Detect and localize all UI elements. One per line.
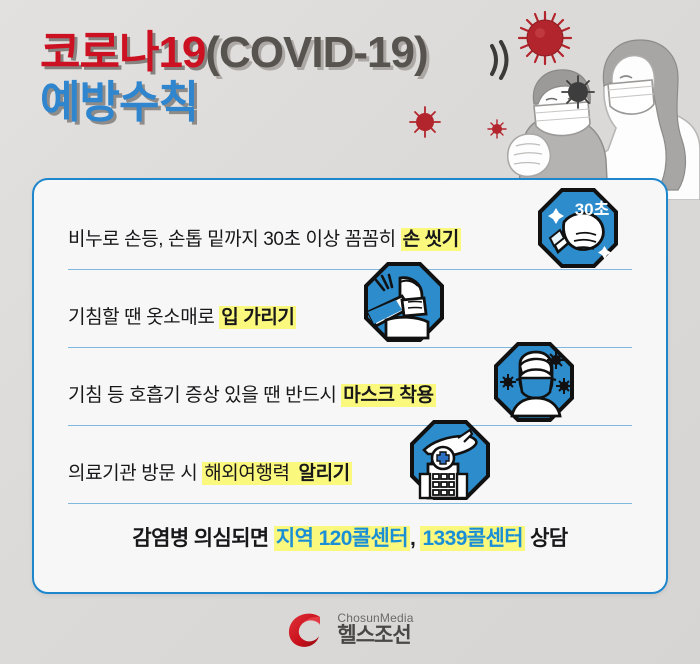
call-center-lead: 감염병 의심되면 (132, 527, 274, 550)
call-center-1339: 1339콜센터 (420, 526, 524, 551)
title-line-1: 코로나19(COVID-19) (40, 28, 428, 78)
icon-badge-30sec: 30초 (575, 200, 610, 219)
rule-text-2: 기침할 땐 옷소매로 입 가리기 (68, 302, 296, 329)
rule-emphasis-2: 입 가리기 (219, 306, 296, 329)
logo-korean: 헬스조선 (337, 625, 413, 647)
logo-text-block: ChosunMedia 헬스조선 (337, 612, 413, 647)
rule-prefix-1: 비누로 손등, 손톱 밑까지 30초 이상 꼼꼼히 (68, 229, 401, 250)
logo-english: ChosunMedia (337, 612, 413, 625)
rule-separator-1 (68, 269, 632, 270)
rule-prefix-3: 기침 등 호흡기 증상 있을 땐 반드시 (68, 385, 341, 406)
title-english: (COVID-19) (205, 28, 427, 77)
rule-separator-4 (68, 503, 632, 504)
call-center-trail: 상담 (525, 527, 568, 550)
rule-emphasis-4: 알리기 (296, 462, 351, 485)
page-title: 코로나19(COVID-19) 예방수칙 (40, 28, 428, 128)
rule-mid-highlight-4: 해외여행력 (202, 462, 296, 485)
rule-text-1: 비누로 손등, 손톱 밑까지 30초 이상 꼼꼼히 손 씻기 (68, 224, 461, 251)
call-center-separator: , (410, 527, 420, 550)
rule-text-4: 의료기관 방문 시 해외여행력 알리기 (68, 458, 352, 485)
rule-row-4: 의료기관 방문 시 해외여행력 알리기 (34, 436, 666, 514)
rule-separator-3 (68, 425, 632, 426)
call-center-local: 지역 120콜센터 (274, 526, 410, 551)
title-korean: 코로나19 (40, 28, 205, 77)
rule-row-1: 비누로 손등, 손톱 밑까지 30초 이상 꼼꼼히 손 씻기 30초 (34, 202, 666, 280)
rule-prefix-2: 기침할 땐 옷소매로 (68, 307, 219, 328)
rule-row-3: 기침 등 호흡기 증상 있을 땐 반드시 마스크 착용 (34, 358, 666, 436)
cough-into-sleeve-icon (356, 258, 452, 359)
title-subtitle: 예방수칙 (40, 78, 428, 128)
rule-text-3: 기침 등 호흡기 증상 있을 땐 반드시 마스크 착용 (68, 380, 436, 407)
prevention-rules-card: 비누로 손등, 손톱 밑까지 30초 이상 꼼꼼히 손 씻기 30초 기 (32, 178, 668, 594)
rule-prefix-4: 의료기관 방문 시 (68, 463, 202, 484)
rule-emphasis-1: 손 씻기 (401, 228, 461, 251)
travel-history-hospital-icon (402, 416, 498, 517)
chosun-media-c-mark (286, 608, 328, 650)
chosun-media-logo: ChosunMedia 헬스조선 (0, 608, 700, 650)
face-mask-icon (486, 338, 582, 439)
call-center-line: 감염병 의심되면 지역 120콜센터, 1339콜센터 상담 (34, 522, 666, 552)
rule-emphasis-3: 마스크 착용 (341, 384, 435, 407)
